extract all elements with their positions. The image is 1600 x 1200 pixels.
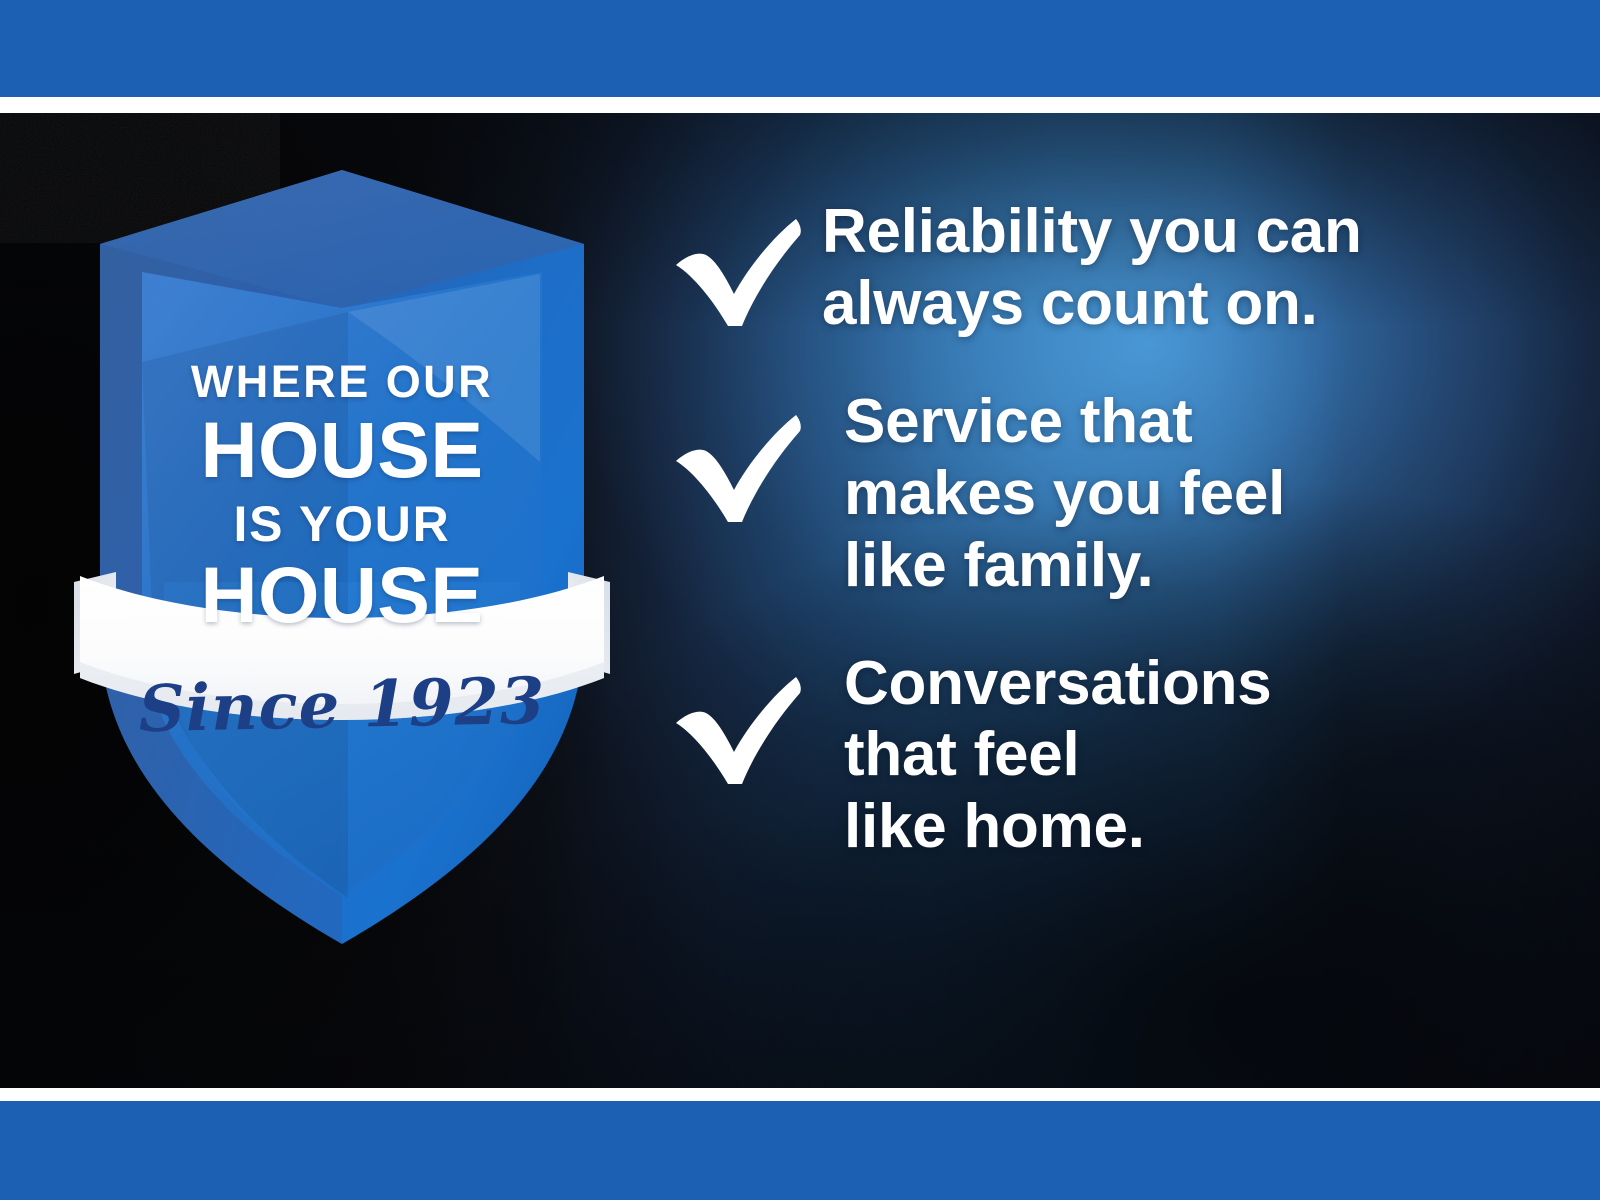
benefit-line: Service that [844,386,1552,458]
promo-poster: WHERE OUR HOUSE IS YOUR HOUSE Since 1923… [0,0,1600,1200]
top-brand-bar [0,0,1600,97]
badge-line-2: HOUSE [72,410,612,489]
benefit-item-service: Service that makes you feel like family. [672,386,1552,602]
benefit-item-conversations: Conversations that feel like home. [672,648,1552,864]
benefits-list: Reliability you can always count on. Ser… [672,196,1552,863]
badge-line-3: IS YOUR [72,499,612,549]
check-icon [672,648,822,788]
benefit-text-service: Service that makes you feel like family. [822,386,1552,602]
bottom-brand-bar [0,1101,1600,1200]
benefit-line: always count on. [822,268,1552,340]
benefit-line: Conversations [844,648,1552,720]
check-icon [672,196,822,330]
badge-line-1: WHERE OUR [72,359,612,404]
badge-line-4: HOUSE [72,555,612,634]
check-icon [672,386,822,526]
benefit-line: that feel [844,719,1552,791]
shield-badge: WHERE OUR HOUSE IS YOUR HOUSE Since 1923 [72,162,612,952]
benefit-line: like home. [844,791,1552,863]
badge-since-text: Since 1923 [71,662,612,748]
benefit-text-reliability: Reliability you can always count on. [822,196,1552,340]
benefit-item-reliability: Reliability you can always count on. [672,196,1552,340]
benefit-line: Reliability you can [822,196,1552,268]
benefit-text-conversations: Conversations that feel like home. [822,648,1552,864]
benefit-line: like family. [844,530,1552,602]
benefit-line: makes you feel [844,458,1552,530]
